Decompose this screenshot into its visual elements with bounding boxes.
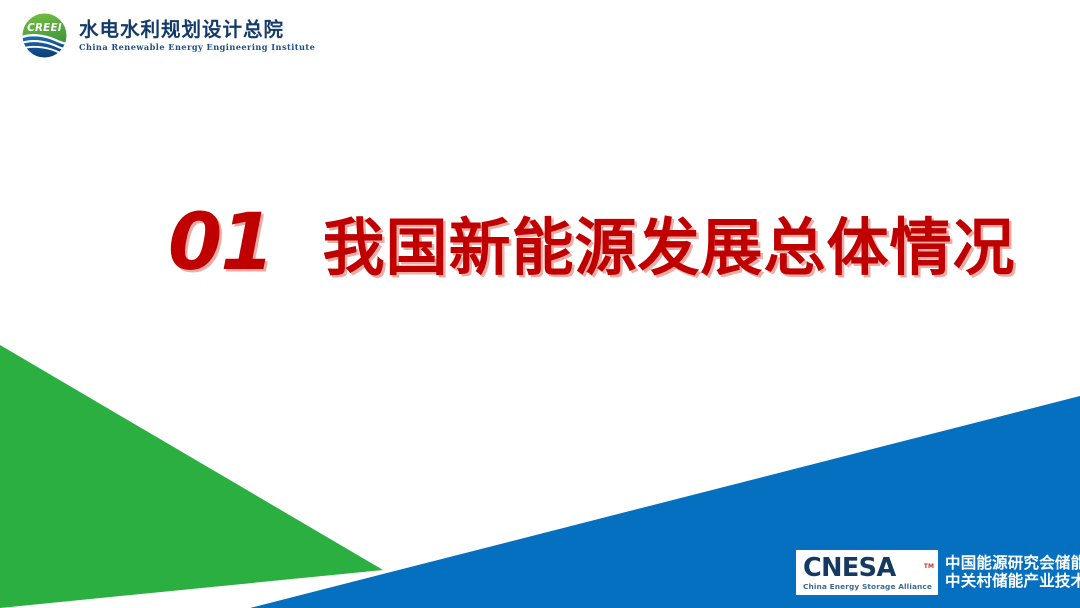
cnesa-name-line-1: 中国能源研究会储能专委会 bbox=[945, 556, 1080, 572]
cnesa-wordmark: CNESA bbox=[803, 556, 932, 582]
creei-monogram-text: CREEI bbox=[27, 22, 62, 34]
brand-name-cn: 水电水利规划设计总院 bbox=[79, 20, 315, 40]
slide-canvas: CREEI 水电水利规划设计总院 China Renewable Energy … bbox=[0, 0, 1080, 608]
cnesa-badge: CNESA TM China Energy Storage Alliance bbox=[796, 550, 938, 595]
section-number: 01 bbox=[168, 204, 273, 282]
decorative-geometry bbox=[0, 0, 1080, 608]
cnesa-chinese-names: 中国能源研究会储能专委会 中关村储能产业技术联盟 bbox=[945, 550, 1080, 595]
creei-circular-logo-icon: CREEI bbox=[21, 12, 68, 59]
section-heading: 我国新能源发展总体情况 bbox=[323, 217, 1016, 279]
brand-name-en: China Renewable Energy Engineering Insti… bbox=[79, 43, 315, 51]
cnesa-subtitle-en: China Energy Storage Alliance bbox=[803, 583, 932, 590]
brand-header: CREEI 水电水利规划设计总院 China Renewable Energy … bbox=[21, 12, 315, 59]
cnesa-logo-lockup: CNESA TM China Energy Storage Alliance 中… bbox=[796, 550, 1080, 595]
brand-text-block: 水电水利规划设计总院 China Renewable Energy Engine… bbox=[79, 20, 315, 51]
trademark-icon: TM bbox=[924, 564, 934, 570]
section-title: 01 我国新能源发展总体情况 bbox=[168, 204, 1016, 282]
green-triangle-shape bbox=[0, 345, 383, 608]
cnesa-name-line-2: 中关村储能产业技术联盟 bbox=[945, 574, 1080, 590]
